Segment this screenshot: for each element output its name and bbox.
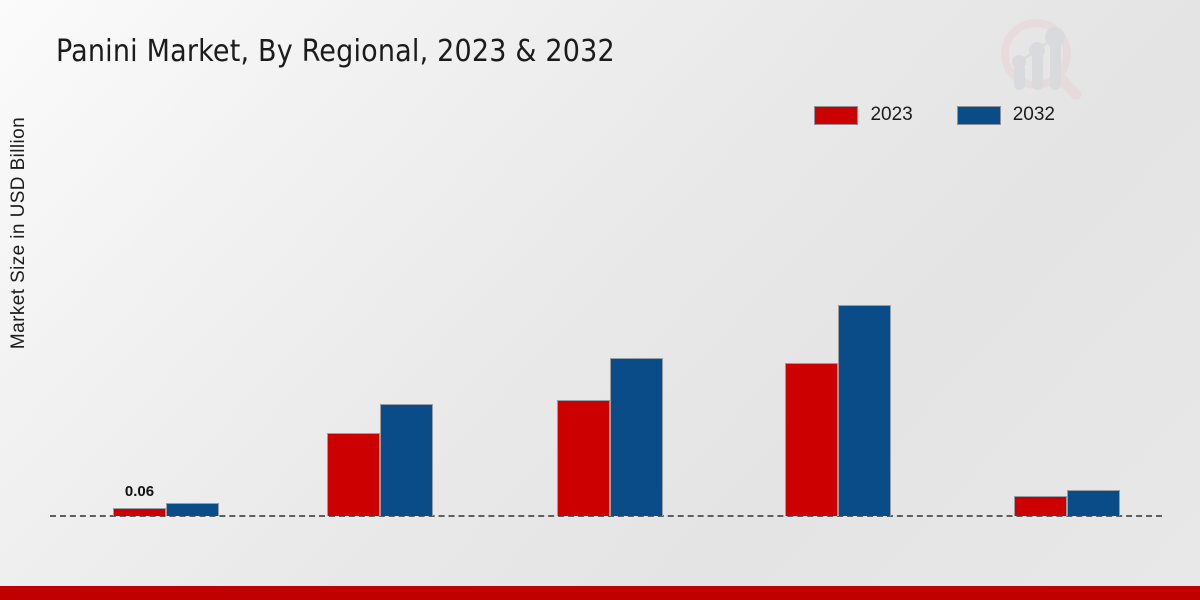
bar-group-south-america: SOUTH AMERICA — [987, 256, 1147, 516]
bar-north-america-2023[interactable] — [785, 363, 838, 516]
plot-area: 0.06 MEA APAC — [0, 0, 1200, 600]
bar-group-apac: APAC — [300, 256, 460, 516]
bar-pair-apac — [327, 404, 433, 516]
bar-pair-europe — [557, 358, 663, 516]
bar-europe-2023[interactable] — [557, 400, 610, 516]
footer-accent-bar — [0, 586, 1200, 600]
chart-canvas: Panini Market, By Regional, 2023 & 2032 … — [0, 0, 1200, 600]
bar-apac-2023[interactable] — [327, 433, 380, 516]
bar-pair-south-america — [1014, 490, 1120, 516]
bar-mea-2023[interactable]: 0.06 — [113, 508, 166, 516]
bar-mea-2032[interactable] — [166, 503, 219, 516]
bar-group-mea: 0.06 MEA — [86, 256, 246, 516]
bar-pair-north-america — [785, 305, 891, 516]
bar-apac-2032[interactable] — [380, 404, 433, 516]
bar-group-europe: EUROPE — [530, 256, 690, 516]
bar-south-america-2032[interactable] — [1067, 490, 1120, 516]
bar-europe-2032[interactable] — [610, 358, 663, 516]
bar-value-mea-2023: 0.06 — [113, 483, 166, 500]
bar-pair-mea: 0.06 — [113, 503, 219, 516]
bar-north-america-2032[interactable] — [838, 305, 891, 516]
bar-group-north-america: NORTH AMERICA — [758, 256, 918, 516]
bar-south-america-2023[interactable] — [1014, 496, 1067, 516]
